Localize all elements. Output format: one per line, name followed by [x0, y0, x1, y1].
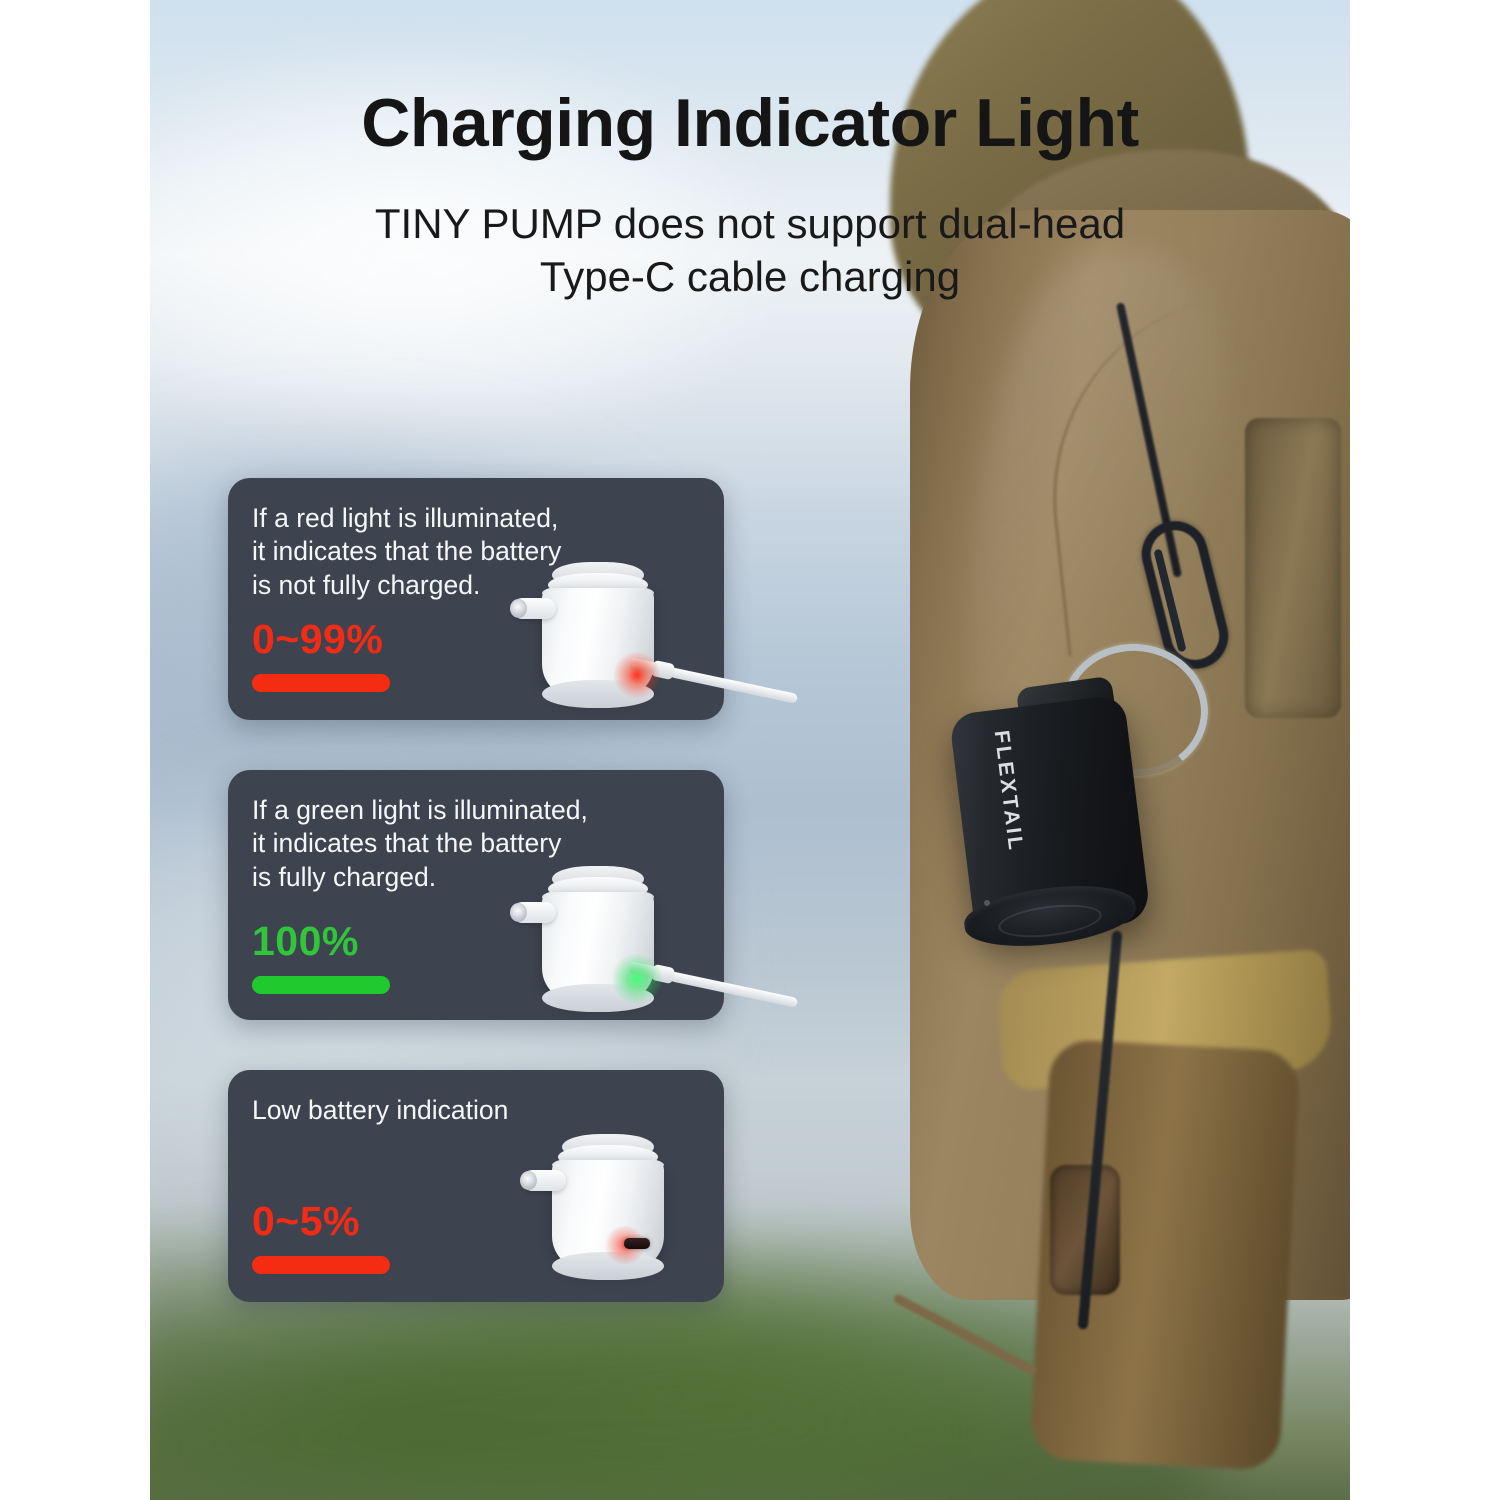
page-title: Charging Indicator Light: [0, 84, 1500, 162]
subtitle-line-1: TINY PUMP does not support dual-head: [0, 198, 1500, 251]
flextail-pump-product: FLEXTAIL: [962, 700, 1152, 945]
usb-c-port: [624, 1238, 650, 1249]
battery-percent-label: 0~99%: [252, 616, 383, 663]
green-light-card: If a green light is illuminated, it indi…: [228, 770, 724, 1020]
pump-nozzle-opening: [520, 1171, 537, 1190]
battery-level-bar: [252, 976, 390, 994]
red-light-card: If a red light is illuminated, it indica…: [228, 478, 724, 720]
pump-illustration-red: [518, 562, 678, 712]
low-battery-card: Low battery indication 0~5%: [228, 1070, 724, 1302]
backpack-cord-tail: [892, 1293, 1037, 1376]
battery-level-bar: [252, 674, 390, 692]
battery-percent-label: 100%: [252, 918, 359, 965]
pump-illustration-low-battery: [528, 1134, 688, 1284]
card-description: Low battery indication: [252, 1094, 652, 1127]
pump-illustration-green: [518, 866, 678, 1016]
card-line: Low battery indication: [252, 1094, 652, 1127]
pump-nozzle-opening: [510, 599, 527, 618]
subtitle-line-2: Type-C cable charging: [0, 251, 1500, 304]
charging-led-green-icon: [612, 954, 662, 1004]
backpack-molle-patch: [1245, 418, 1341, 718]
pump-nozzle-opening: [510, 903, 527, 922]
battery-percent-label: 0~5%: [252, 1198, 360, 1245]
battery-level-bar: [252, 1256, 390, 1274]
charging-led-red-icon: [614, 652, 660, 698]
card-line: it indicates that the battery: [252, 827, 652, 860]
page-subtitle: TINY PUMP does not support dual-head Typ…: [0, 198, 1500, 303]
card-line: If a red light is illuminated,: [252, 502, 652, 535]
card-line: If a green light is illuminated,: [252, 794, 652, 827]
infographic-page: FLEXTAIL Charging Indicator Light TINY P…: [0, 0, 1500, 1500]
